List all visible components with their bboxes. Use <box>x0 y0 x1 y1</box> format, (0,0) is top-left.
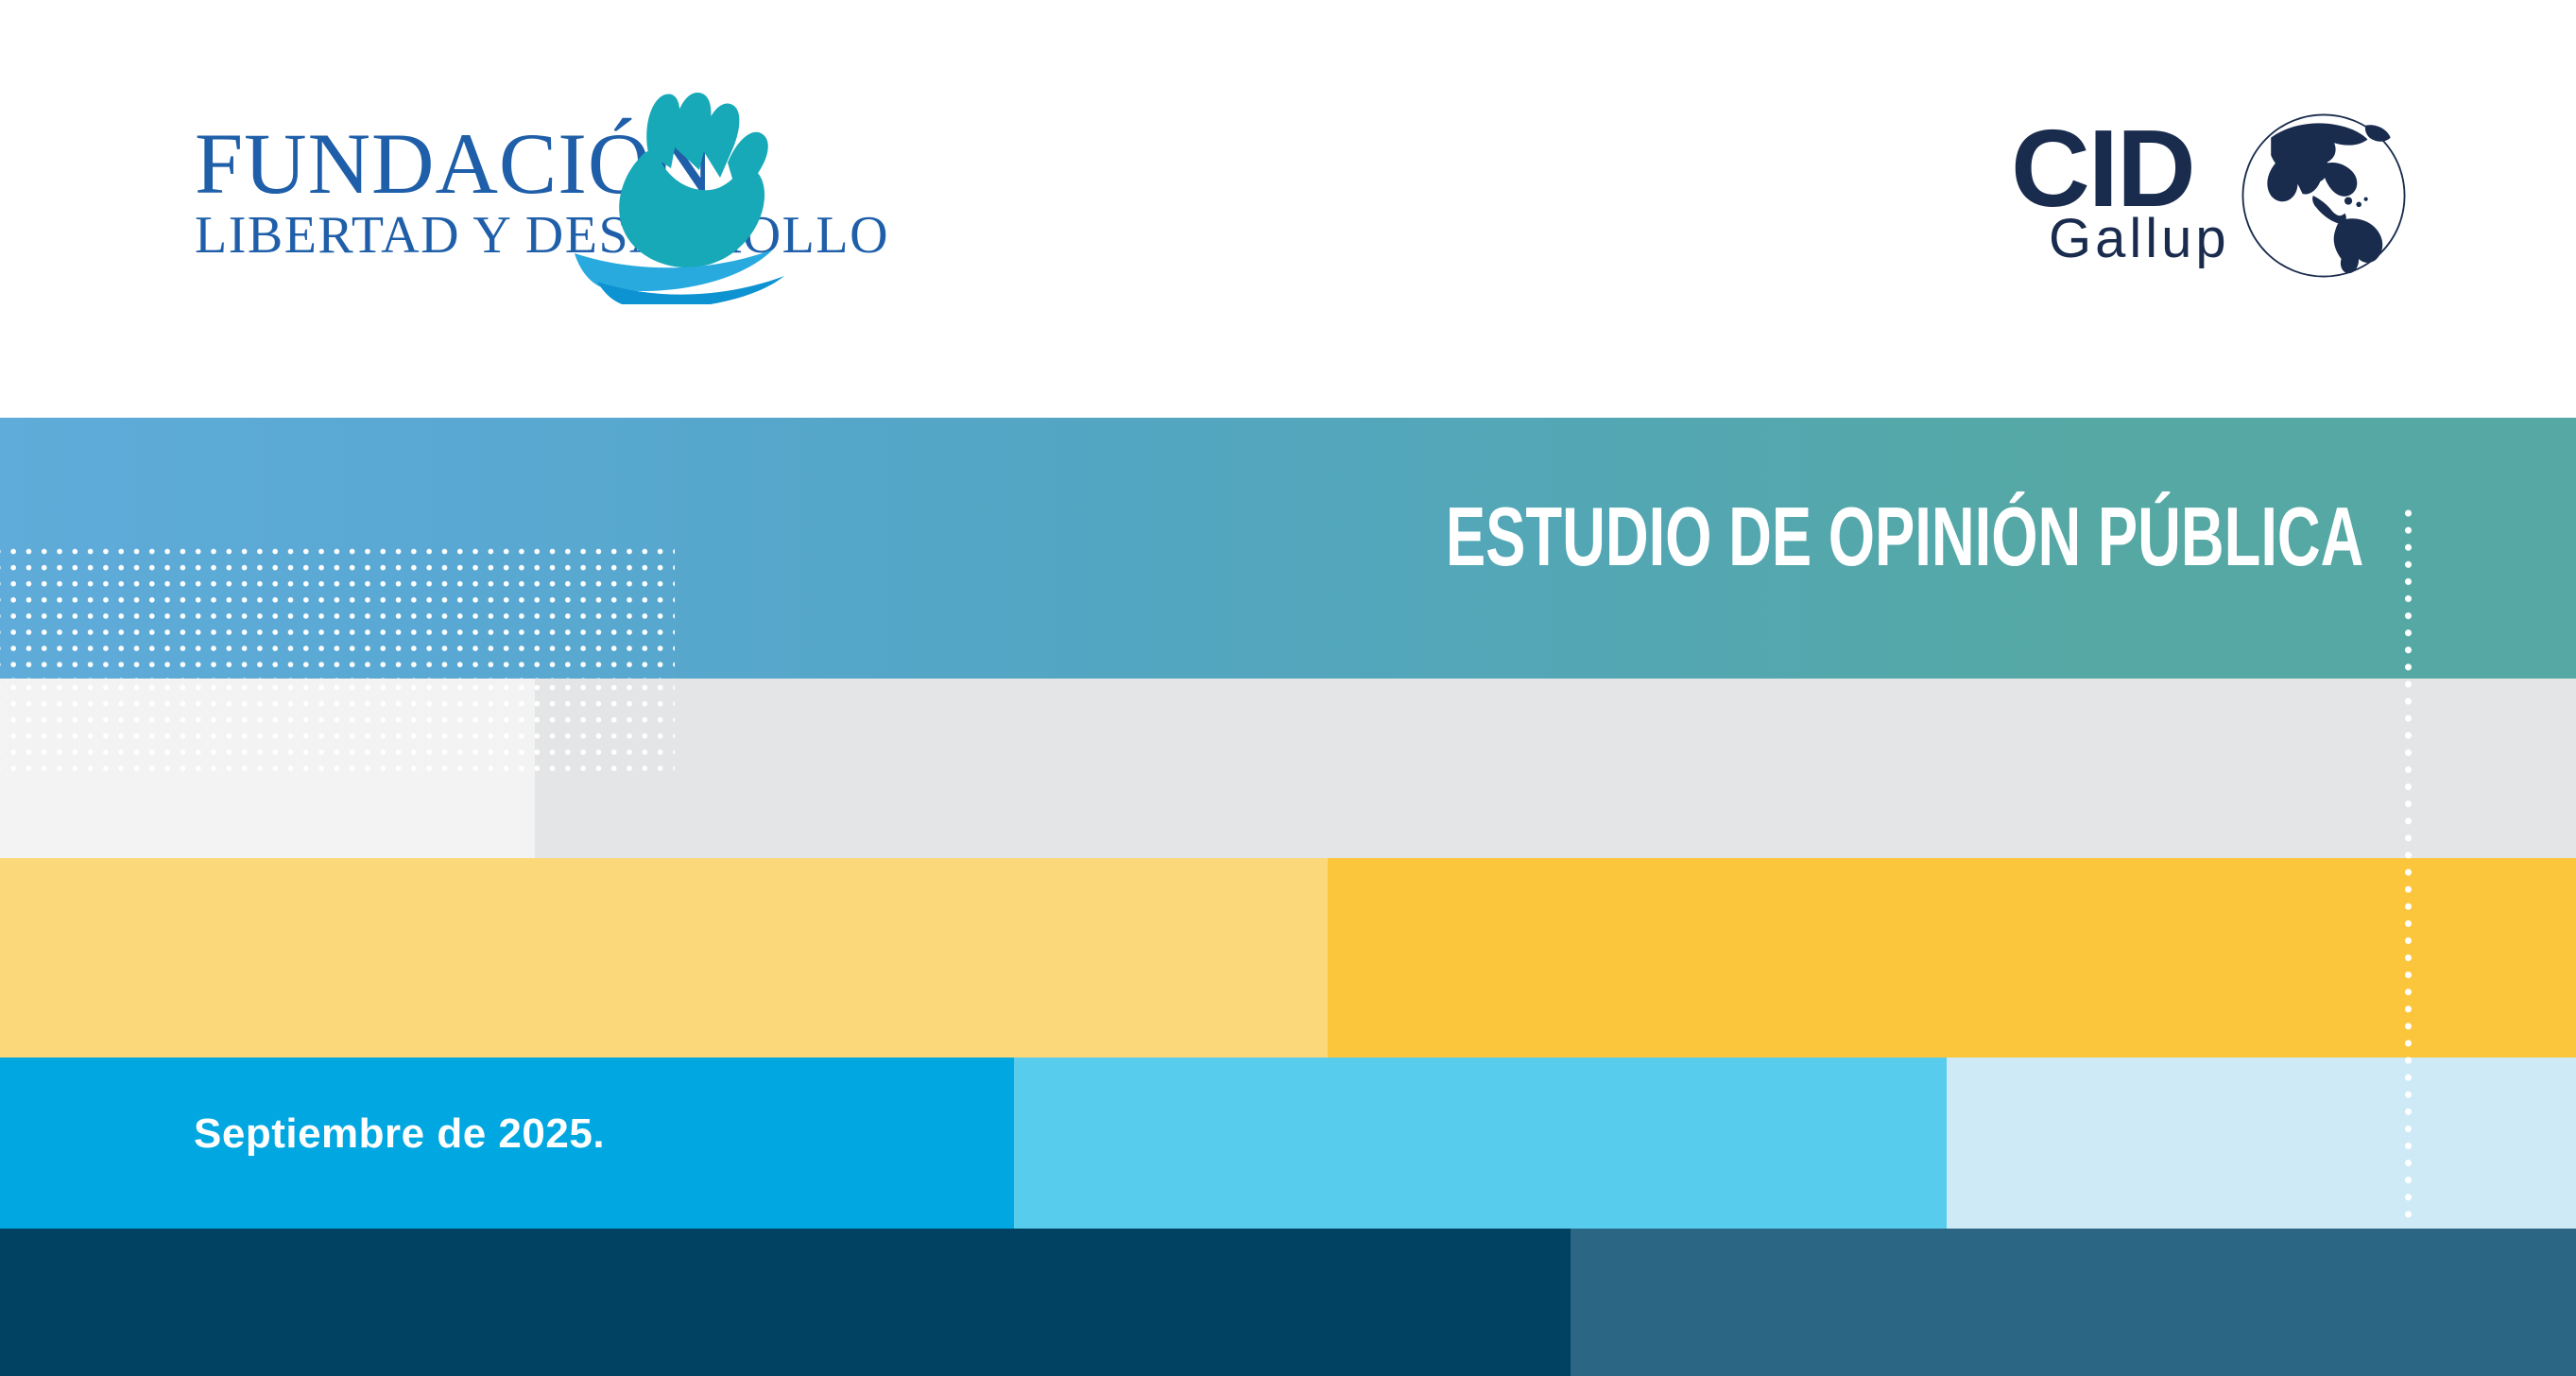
cid-sub-text: Gallup <box>2049 212 2230 267</box>
dot-grid-pattern-blue <box>0 541 675 679</box>
fundacion-logo: FUNDACIÓN LIBERTAD Y DESARROLLO <box>185 106 847 304</box>
dot-grid-pattern-gray <box>0 679 675 779</box>
cid-gallup-logo: CID Gallup <box>2011 113 2408 293</box>
band-cyan: Septiembre de 2025. <box>0 1058 2576 1229</box>
band-yellow <box>0 858 2576 1058</box>
band-yellow-light-segment <box>0 858 1328 1058</box>
date-label: Septiembre de 2025. <box>194 1110 605 1158</box>
hand-bird-mark-icon <box>575 87 849 304</box>
band-navy <box>0 1229 2576 1376</box>
page-title: ESTUDIO DE OPINIÓN PÚBLICA <box>1445 495 2363 578</box>
dotted-vertical-rule <box>2404 505 2413 1223</box>
cid-brand-text: CID <box>2011 113 2194 223</box>
band-gray <box>0 679 2576 858</box>
globe-americas-icon <box>2236 108 2412 284</box>
header-bar: FUNDACIÓN LIBERTAD Y DESARROLLO CID Gall… <box>0 0 2576 418</box>
band-navy-dark-segment <box>0 1229 1571 1376</box>
band-cyan-mid-segment <box>1014 1058 1947 1229</box>
slide-cover: FUNDACIÓN LIBERTAD Y DESARROLLO CID Gall… <box>0 0 2576 1376</box>
